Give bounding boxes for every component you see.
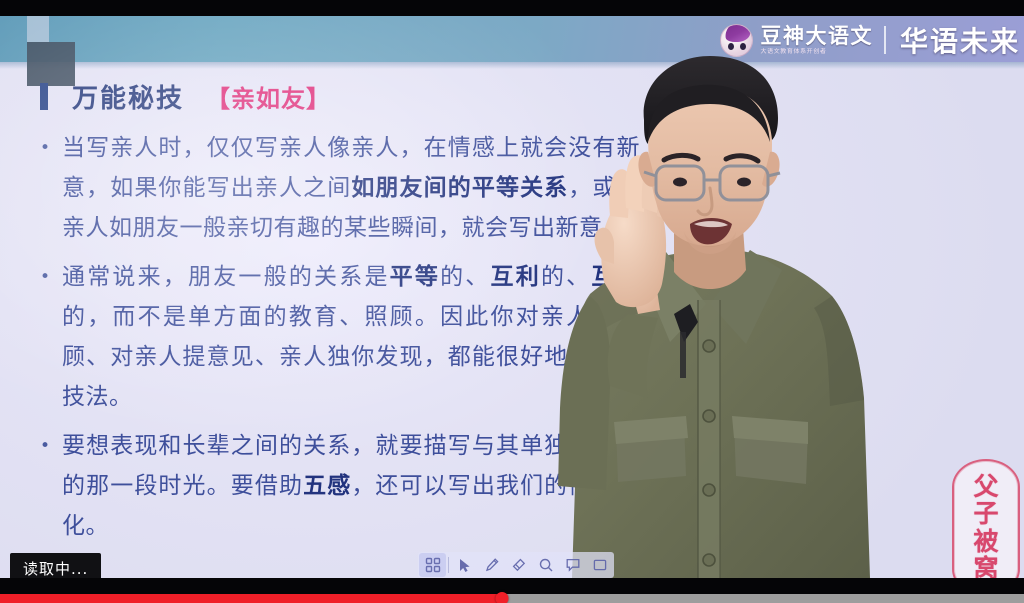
slide-canvas: 豆神大语文 大语文教育体系开创者 华语未来 万能秘技 【亲如友】 • 当写亲人时… (0, 16, 1024, 578)
video-progress-fill (0, 594, 502, 603)
list-item: • 要想表现和长辈之间的关系，就要描写与其单独在一起的那一段时光。要借助五感，还… (40, 426, 640, 546)
slide-decoration-bar (27, 16, 49, 42)
bullet-text: 要想表现和长辈之间的关系，就要描写与其单独在一起的那一段时光。要借助五感，还可以… (62, 426, 640, 546)
watermark-char: 子 (973, 501, 998, 527)
cursor-arrow-icon[interactable] (451, 553, 478, 577)
toolbar-divider (448, 557, 449, 573)
list-item: • 当写亲人时，仅仅写亲人像亲人，在情感上就会没有新意，如果你能写出亲人之间如朋… (40, 128, 640, 248)
video-progress-track[interactable] (0, 594, 1024, 603)
slide-title: 万能秘技 【亲如友】 (40, 78, 331, 115)
eraser-icon[interactable] (505, 553, 532, 577)
watermark-stamp: 父 子 被 窝 (952, 459, 1020, 578)
grid-select-icon[interactable] (419, 553, 446, 577)
comment-icon[interactable] (559, 553, 586, 577)
bullet-text: 当写亲人时，仅仅写亲人像亲人，在情感上就会没有新意，如果你能写出亲人之间如朋友间… (62, 128, 640, 248)
slide-header-fade (0, 62, 1024, 69)
watermark-char: 被 (973, 529, 998, 555)
bullet-text: 通常说来，朋友一般的关系是平等的、互利的、互助的，而不是单方面的教育、照顾。因此… (62, 257, 640, 417)
list-item: • 通常说来，朋友一般的关系是平等的、互利的、互助的，而不是单方面的教育、照顾。… (40, 257, 640, 417)
title-accent-bar (40, 83, 48, 110)
brand-secondary-name: 华语未来 (900, 20, 1020, 60)
brand-name: 豆神大语文 (760, 26, 873, 47)
annotation-toolbar[interactable] (418, 552, 614, 578)
watermark-char: 父 (973, 474, 998, 500)
logo-eye-right (740, 43, 746, 50)
watermark-char: 窝 (973, 556, 998, 578)
slide-title-tag: 【亲如友】 (206, 79, 331, 114)
brand-divider (884, 26, 886, 54)
letterbox-top (0, 0, 1024, 16)
brand-tagline: 大语文教育体系开创者 (760, 49, 873, 55)
brand-lockup: 豆神大语文 大语文教育体系开创者 华语未来 (720, 20, 1020, 60)
video-progress-handle[interactable] (495, 592, 508, 603)
bullet-marker: • (40, 426, 62, 455)
pen-icon[interactable] (478, 553, 505, 577)
logo-eye-left (728, 43, 734, 50)
doushen-owl-logo-icon (720, 24, 753, 57)
bullet-marker: • (40, 128, 62, 157)
bullet-marker: • (40, 257, 62, 286)
shape-icon[interactable] (586, 553, 613, 577)
logo-flame-shape (724, 24, 752, 44)
slide-body: • 当写亲人时，仅仅写亲人像亲人，在情感上就会没有新意，如果你能写出亲人之间如朋… (40, 128, 640, 555)
brand-primary-text: 豆神大语文 大语文教育体系开创者 (760, 26, 873, 55)
slide-title-main: 万能秘技 (72, 78, 184, 115)
video-player-stage: 豆神大语文 大语文教育体系开创者 华语未来 万能秘技 【亲如友】 • 当写亲人时… (0, 0, 1024, 603)
letterbox-bottom (0, 578, 1024, 594)
magnifier-icon[interactable] (532, 553, 559, 577)
